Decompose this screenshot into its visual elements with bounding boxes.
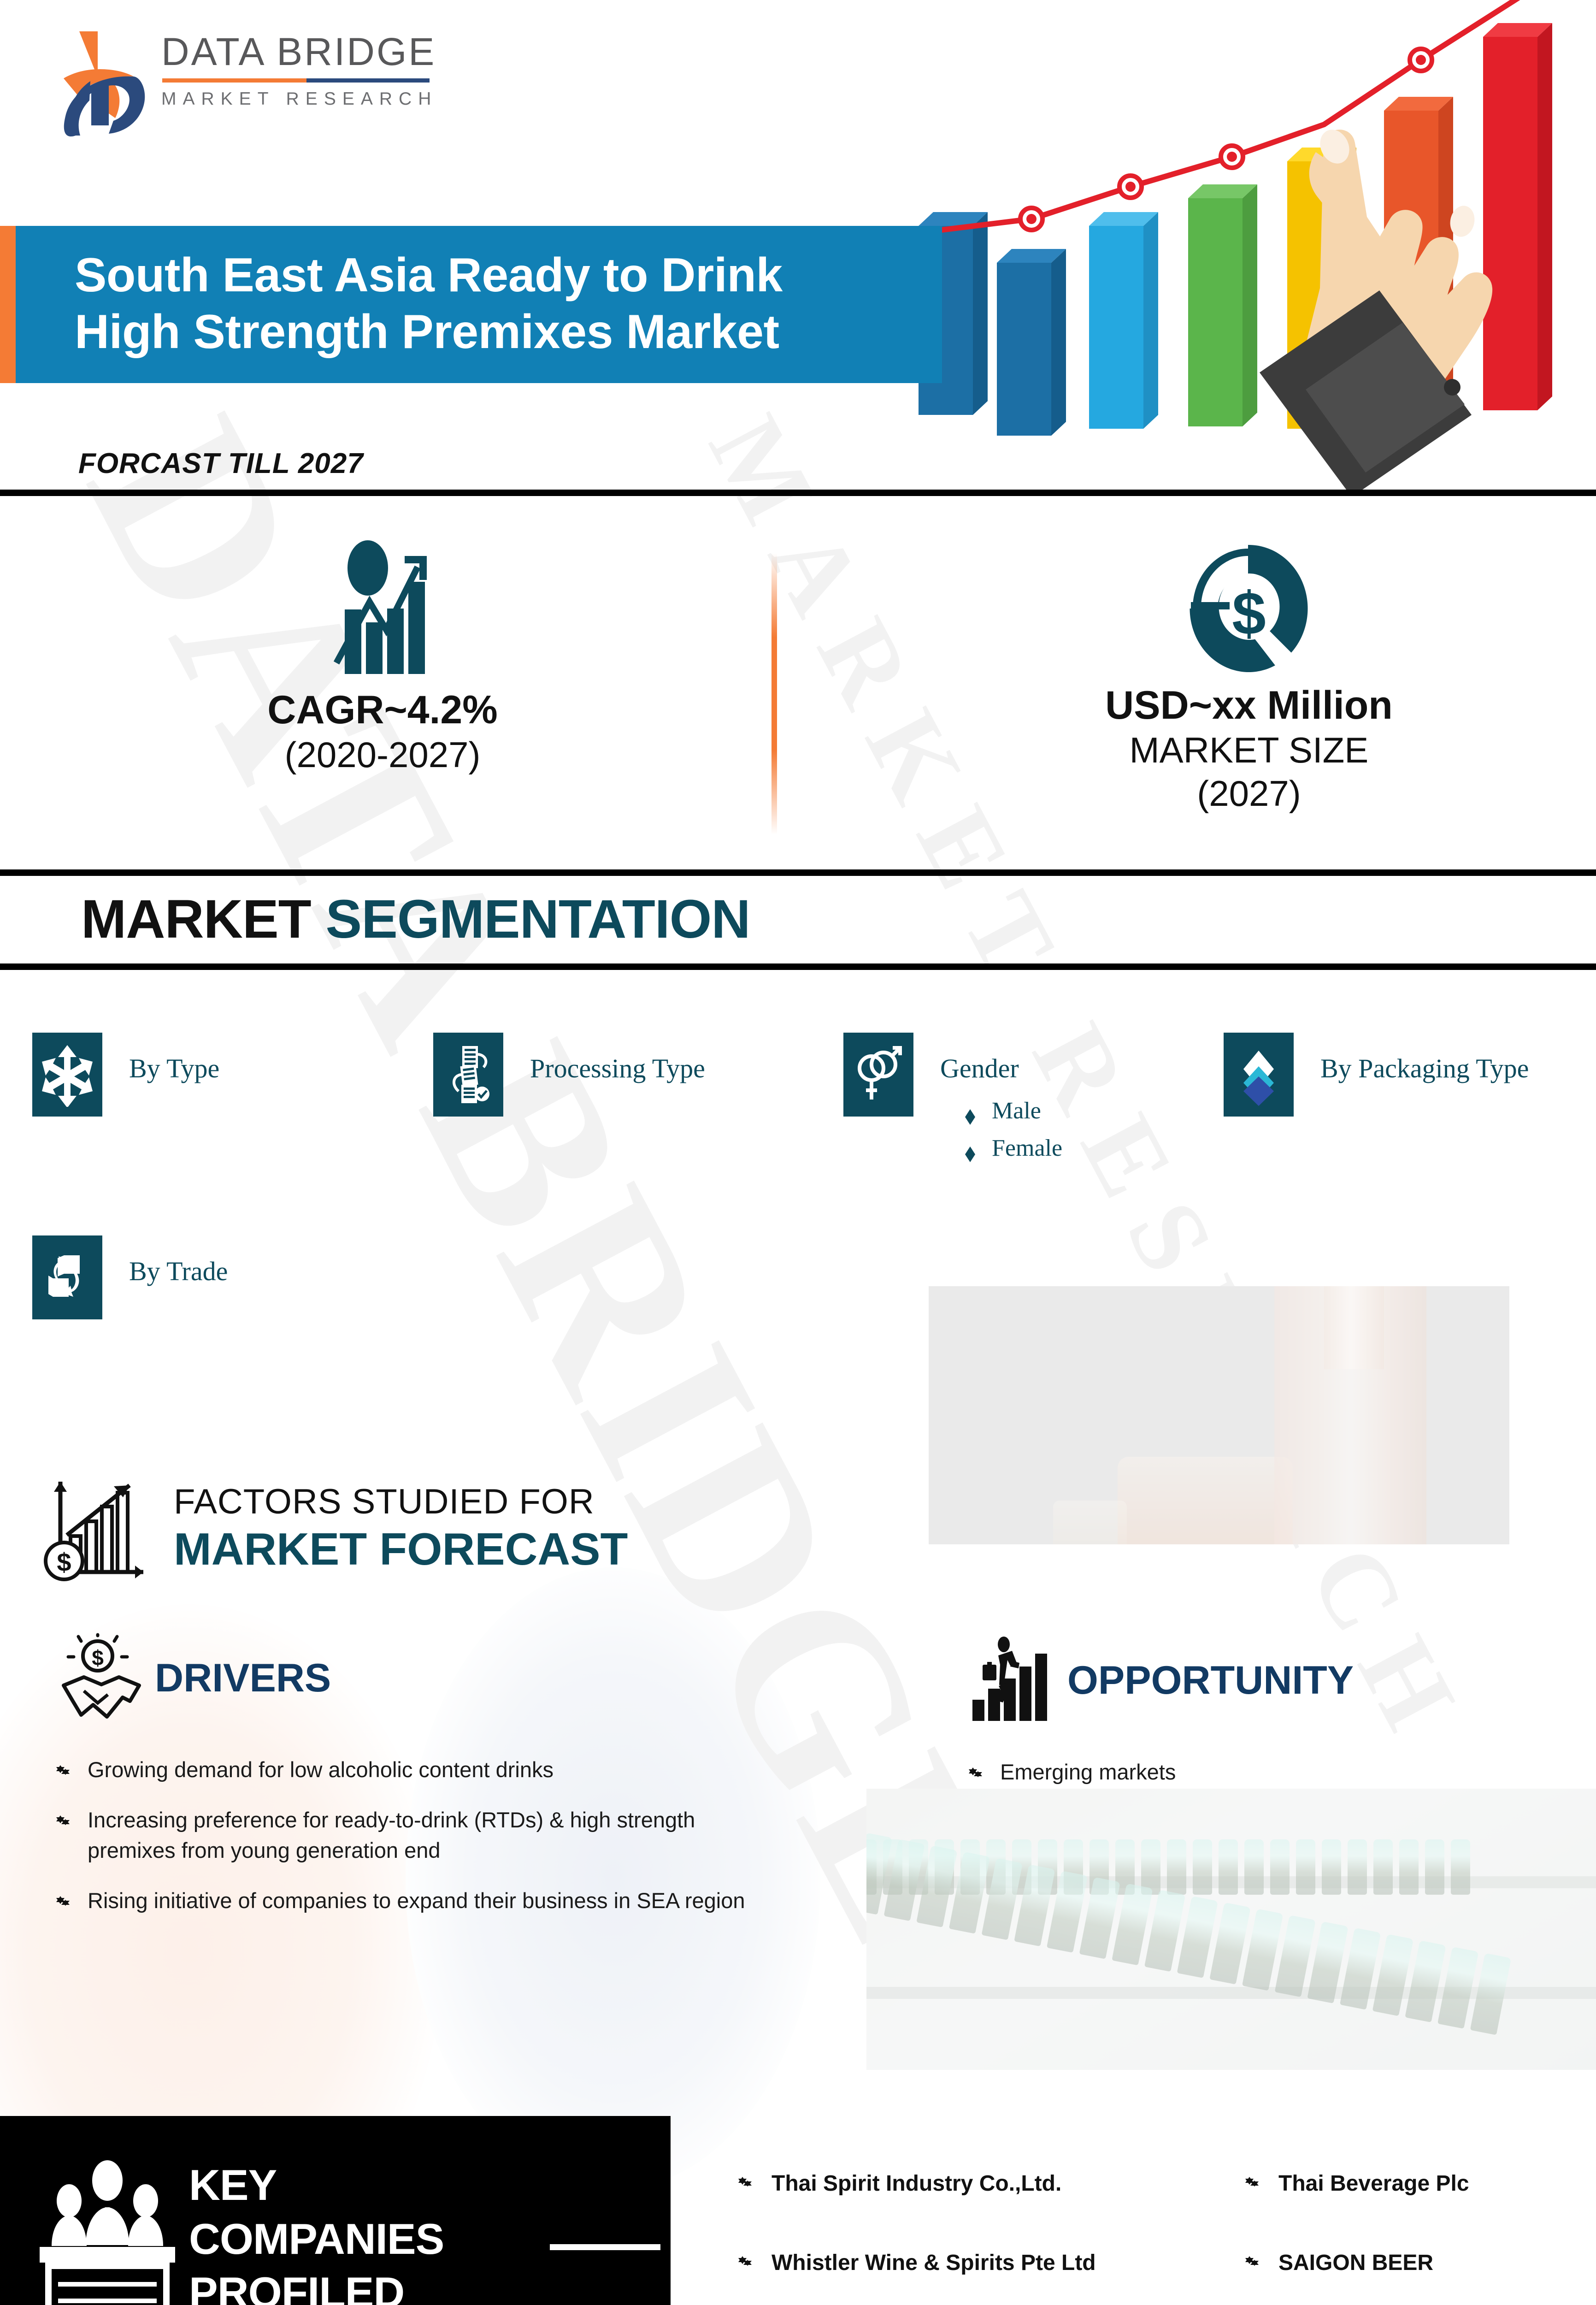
segmentation-item-by-packaging-type[interactable]: By Packaging Type (1224, 1033, 1529, 1117)
divider-rule-top (0, 490, 1596, 496)
people-podium-icon (36, 2158, 179, 2305)
opportunity-bullet-1: Emerging markets (968, 1757, 1581, 1788)
market-size-value: USD~xx Million (1000, 682, 1498, 729)
key-companies-title-line2: COMPANIES (189, 2212, 444, 2266)
bullet-diamond-icon (737, 2252, 751, 2273)
processing-type-text: Processing Type (530, 1033, 705, 1083)
line-photo-overlay (866, 1789, 1596, 2070)
bullet-diamond-icon (968, 1763, 982, 1785)
segmentation-title-segmentation: SEGMENTATION (326, 889, 750, 950)
logo-divider (162, 78, 430, 83)
stats-divider (771, 553, 777, 834)
dollar-bar-chart-arrow-icon: $ (44, 1471, 154, 1586)
gender-label: Gender (940, 1054, 1062, 1083)
liquor-bottle-photo (929, 1286, 1509, 1544)
opportunity-header: OPPORTUNITY (968, 1634, 1581, 1726)
gender-text: Gender Male Female (940, 1033, 1062, 1172)
segmentation-item-by-type[interactable]: By Type (32, 1033, 219, 1117)
data-bridge-logo-icon (55, 23, 147, 138)
processing-type-label: Processing Type (530, 1054, 705, 1083)
list-item: DESTILERIA LIMTUACO & COMPANY (737, 2302, 1240, 2305)
market-forecast-label: MARKET FORECAST (174, 1524, 628, 1575)
key-companies-dash (550, 2244, 660, 2250)
by-type-icon-box (32, 1033, 102, 1117)
by-trade-text: By Trade (129, 1235, 228, 1286)
gender-icon-box (843, 1033, 913, 1117)
svg-text:$: $ (57, 1548, 71, 1577)
drivers-bullets: Growing demand for low alcoholic content… (55, 1755, 839, 1916)
drivers-title: DRIVERS (155, 1655, 331, 1701)
key-companies-column-right: Thai Beverage Plc SAIGON BEER Siam Winer… (1244, 2144, 1595, 2305)
list-item: Thai Spirit Industry Co.,Ltd. (737, 2144, 1240, 2223)
forecast-label: FORCAST TILL 2027 (78, 447, 364, 480)
handshake-coin-icon: $ (55, 1632, 147, 1724)
key-companies-title-line3: PROFILED (189, 2266, 444, 2305)
list-item: Thai Beverage Plc (1244, 2144, 1595, 2223)
opportunity-bullet-1-text: Emerging markets (1000, 1757, 1176, 1788)
businessman-climbing-bars-icon (968, 1634, 1060, 1726)
segmentation-item-by-trade[interactable]: By Trade (32, 1235, 228, 1319)
list-item: SAIGON BEER (1244, 2223, 1595, 2302)
by-packaging-type-icon-box (1224, 1033, 1294, 1117)
factors-text: FACTORS STUDIED FOR MARKET FORECAST (174, 1482, 628, 1575)
title-banner: South East Asia Ready to Drink High Stre… (0, 226, 942, 383)
gender-sub-male-label: Male (992, 1097, 1041, 1124)
bullet-diamond-icon (55, 1761, 69, 1782)
donut-chart-dollar-icon: $ (1180, 535, 1318, 678)
bullet-diamond-icon (1244, 2173, 1258, 2194)
bullet-diamond-icon (55, 1811, 69, 1832)
opportunity-block: OPPORTUNITY Emerging markets (968, 1634, 1581, 1807)
logo-subtitle: MARKET RESEARCH (161, 89, 433, 109)
gender-sub-female: Female (965, 1135, 1062, 1162)
divider-rule-segmentation-top (0, 869, 1596, 876)
bullet-diamond-icon (965, 1104, 975, 1117)
driver-bullet-1-text: Growing demand for low alcoholic content… (88, 1755, 554, 1785)
brand-logo: DATA BRIDGE MARKET RESEARCH (55, 23, 433, 138)
beer-bottling-line-photo (866, 1789, 1596, 2070)
driver-bullet-3-text: Rising initiative of companies to expand… (88, 1885, 745, 1916)
stat-market-size: $ USD~xx Million MARKET SIZE (2027) (1000, 530, 1498, 816)
male-female-symbol-icon (853, 1042, 904, 1107)
key-companies-column-left: Thai Spirit Industry Co.,Ltd. Whistler W… (737, 2144, 1240, 2305)
key-companies-title: KEY COMPANIES PROFILED (189, 2158, 444, 2305)
bullet-diamond-icon (737, 2173, 751, 2194)
gender-sub-male: Male (965, 1097, 1062, 1124)
by-trade-icon-box (32, 1235, 102, 1319)
processing-type-icon-box (433, 1033, 503, 1117)
title-accent-bar (0, 226, 16, 383)
by-trade-label: By Trade (129, 1257, 228, 1286)
segmentation-item-gender[interactable]: Gender Male Female (843, 1033, 1062, 1172)
cagr-period: (2020-2027) (134, 733, 631, 777)
divider-rule-segmentation-bottom (0, 963, 1596, 970)
key-companies-panel: KEY COMPANIES PROFILED (0, 2116, 671, 2305)
opportunity-title: OPPORTUNITY (1067, 1658, 1354, 1703)
driver-bullet-1: Growing demand for low alcoholic content… (55, 1755, 839, 1785)
svg-text:$: $ (92, 1646, 104, 1670)
by-packaging-type-label: By Packaging Type (1320, 1054, 1529, 1083)
by-packaging-type-text: By Packaging Type (1320, 1033, 1529, 1083)
bar-chart-with-pointing-hand-icon (919, 0, 1596, 493)
market-size-year: (2027) (1000, 772, 1498, 816)
drivers-block: $ DRIVERS Growing demand for low alcohol… (55, 1632, 839, 1936)
bullet-diamond-icon (965, 1141, 975, 1154)
stacked-layers-icon (1233, 1042, 1284, 1107)
svg-text:$: $ (1232, 579, 1266, 647)
market-size-label: MARKET SIZE (1000, 729, 1498, 772)
exchange-cycle-icon (42, 1245, 93, 1310)
by-type-text: By Type (129, 1033, 219, 1083)
stat-cagr: CAGR~4.2% (2020-2027) (134, 535, 631, 777)
logo-name: DATA BRIDGE (161, 32, 433, 71)
cagr-value: CAGR~4.2% (134, 687, 631, 733)
company-name: Thai Spirit Industry Co.,Ltd. (771, 2171, 1061, 2196)
driver-bullet-2-text: Increasing preference for ready-to-drink… (88, 1805, 760, 1866)
drivers-header: $ DRIVERS (55, 1632, 839, 1724)
segmentation-item-processing-type[interactable]: Processing Type (433, 1033, 705, 1117)
by-type-label: By Type (129, 1054, 219, 1083)
hero-bar-chart-graphic (919, 0, 1596, 493)
company-name: SAIGON BEER (1278, 2250, 1433, 2275)
company-name: Whistler Wine & Spirits Pte Ltd (771, 2250, 1096, 2275)
list-item: Siam Winery (1244, 2302, 1595, 2305)
market-segmentation-header: MARKET SEGMENTATION (0, 869, 1596, 970)
market-size-icon-wrap: $ (1000, 530, 1498, 682)
factors-studied-label: FACTORS STUDIED FOR (174, 1482, 628, 1521)
company-name: Thai Beverage Plc (1278, 2171, 1469, 2196)
factors-studied-block: $ FACTORS STUDIED FOR MARKET FORECAST (44, 1471, 628, 1586)
gender-sub-female-label: Female (992, 1135, 1062, 1162)
list-item: Whistler Wine & Spirits Pte Ltd (737, 2223, 1240, 2302)
segmentation-title-market: MARKET (81, 889, 326, 950)
bullet-diamond-icon (1244, 2252, 1258, 2273)
stats-strip: CAGR~4.2% (2020-2027) $ USD~xx Million M… (0, 502, 1596, 867)
opportunity-bullets: Emerging markets (968, 1757, 1581, 1788)
driver-bullet-3: Rising initiative of companies to expand… (55, 1885, 839, 1916)
page-title: South East Asia Ready to Drink High Stre… (75, 247, 886, 360)
key-companies-title-line1: KEY (189, 2158, 444, 2212)
person-growth-bar-chart-icon (309, 539, 456, 682)
workflow-document-check-icon (443, 1042, 494, 1107)
page-header: DATA BRIDGE MARKET RESEARCH (0, 0, 1596, 498)
bullet-diamond-icon (55, 1892, 69, 1913)
driver-bullet-2: Increasing preference for ready-to-drink… (55, 1805, 839, 1866)
four-way-arrow-icon (42, 1042, 93, 1107)
bottle-photo-overlay (929, 1286, 1509, 1544)
cagr-icon-wrap (134, 535, 631, 687)
gender-sub-list: Male Female (940, 1097, 1062, 1162)
